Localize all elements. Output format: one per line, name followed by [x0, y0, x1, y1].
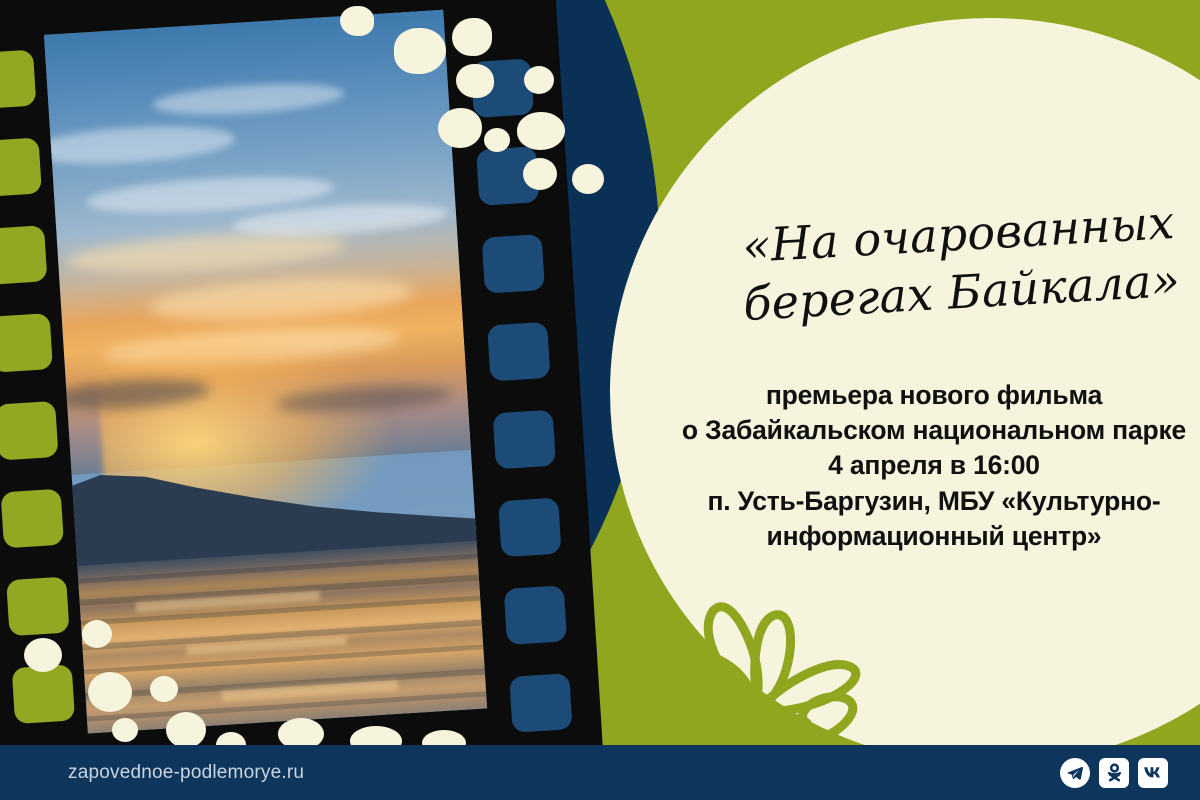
decorative-bubble	[524, 66, 554, 94]
film-sprocket-left	[0, 137, 42, 197]
decorative-bubble	[82, 620, 112, 648]
body-line-datetime: 4 апреля в 16:00	[676, 448, 1192, 483]
decorative-bubble	[340, 6, 374, 36]
photo-baikal-sunset	[44, 10, 487, 734]
film-sprocket-left	[1, 489, 64, 549]
decorative-bubble	[456, 64, 494, 98]
film-sprocket-right	[487, 322, 550, 382]
film-sprocket-left	[0, 313, 53, 373]
photo-water	[77, 541, 487, 734]
leaf-logo	[655, 575, 885, 750]
body-line-venue-2: информационный центр»	[676, 519, 1192, 554]
vkontakte-icon[interactable]	[1138, 758, 1168, 788]
film-sprocket-left	[0, 225, 47, 285]
film-sprocket-right	[498, 497, 561, 557]
decorative-bubble	[438, 108, 482, 148]
poster-canvas: «На очарованных берегах Байкала» премьер…	[0, 0, 1200, 800]
film-sprocket-right	[509, 673, 572, 733]
social-links	[1060, 758, 1168, 788]
decorative-bubble	[452, 18, 492, 56]
film-sprocket-left	[6, 577, 69, 637]
decorative-bubble	[112, 718, 138, 742]
film-sprocket-right	[482, 234, 545, 294]
film-sprocket-right	[493, 410, 556, 470]
decorative-bubble	[24, 638, 62, 672]
odnoklassniki-icon[interactable]	[1099, 758, 1129, 788]
decorative-bubble	[88, 672, 132, 712]
film-sprocket-left	[0, 401, 58, 461]
telegram-icon[interactable]	[1060, 758, 1090, 788]
poster-body: премьера нового фильма о Забайкальском н…	[676, 378, 1192, 554]
decorative-bubble	[517, 112, 565, 150]
body-line-subject: о Забайкальском национальном парке	[676, 413, 1192, 448]
body-line-venue-1: п. Усть-Баргузин, МБУ «Культурно-	[676, 484, 1192, 519]
decorative-bubble	[572, 164, 604, 194]
film-sprocket-right	[504, 585, 567, 645]
footer-bar: zapovednoe-podlemorye.ru	[0, 745, 1200, 800]
website-url[interactable]: zapovednoe-podlemorye.ru	[68, 762, 304, 784]
decorative-bubble	[484, 128, 510, 152]
decorative-bubble	[166, 712, 206, 748]
body-line-premiere: премьера нового фильма	[676, 378, 1192, 413]
film-sprocket-left	[12, 664, 75, 724]
decorative-bubble	[523, 158, 557, 190]
decorative-bubble	[150, 676, 178, 702]
film-sprocket-left	[0, 50, 36, 110]
